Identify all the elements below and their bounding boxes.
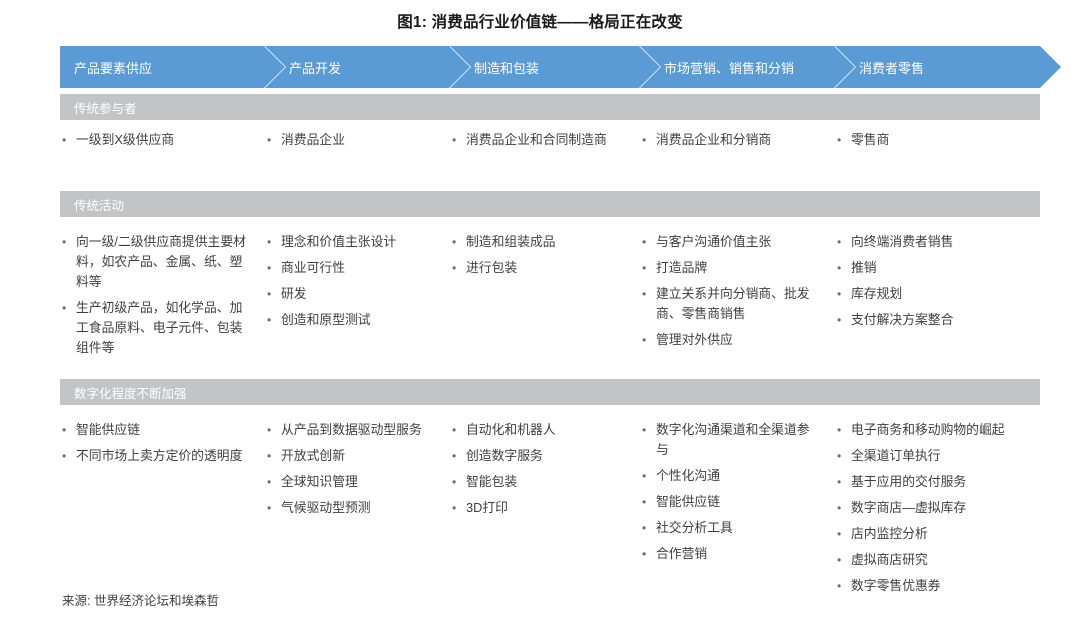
list-item: 全球知识管理: [265, 472, 436, 492]
list-item: 向一级/二级供应商提供主要材料，如农产品、金属、纸、塑料等: [60, 232, 251, 292]
value-chain-stage-bar: 产品要素供应 产品开发 制造和包装 市场营销、销售和分销 消费者零售: [60, 46, 1040, 88]
page-title: 图1: 消费品行业价值链——格局正在改变: [0, 10, 1080, 32]
bullet-list: 智能供应链 不同市场上卖方定价的透明度: [60, 420, 251, 466]
section-header-label: 传统活动: [74, 195, 124, 214]
cell-0-0: 一级到X级供应商: [60, 130, 265, 156]
cell-1-1: 理念和价值主张设计 商业可行性 研发 创造和原型测试: [265, 232, 450, 364]
list-item: 智能供应链: [60, 420, 251, 440]
list-item: 库存规划: [835, 284, 1026, 304]
list-item: 合作营销: [640, 544, 821, 564]
stage-label: 产品开发: [289, 58, 341, 77]
bullet-list: 向一级/二级供应商提供主要材料，如农产品、金属、纸、塑料等 生产初级产品，如化学…: [60, 232, 251, 358]
list-item: 研发: [265, 284, 436, 304]
list-item: 建立关系并向分销商、批发商、零售商销售: [640, 284, 821, 324]
list-item: 进行包装: [450, 258, 626, 278]
cell-2-0: 智能供应链 不同市场上卖方定价的透明度: [60, 420, 265, 602]
cell-2-1: 从产品到数据驱动型服务 开放式创新 全球知识管理 气候驱动型预测: [265, 420, 450, 602]
bullet-list: 消费品企业和合同制造商: [450, 130, 626, 150]
list-item: 个性化沟通: [640, 466, 821, 486]
stage-3[interactable]: 市场营销、销售和分销: [640, 46, 835, 88]
list-item: 与客户沟通价值主张: [640, 232, 821, 252]
list-item: 电子商务和移动购物的崛起: [835, 420, 1026, 440]
list-item: 基于应用的交付服务: [835, 472, 1026, 492]
bullet-list: 零售商: [835, 130, 1026, 150]
bullet-list: 向终端消费者销售 推销 库存规划 支付解决方案整合: [835, 232, 1026, 330]
list-item: 3D打印: [450, 498, 626, 518]
section-header-label: 数字化程度不断加强: [74, 383, 187, 402]
list-item: 全渠道订单执行: [835, 446, 1026, 466]
cell-0-1: 消费品企业: [265, 130, 450, 156]
chevron-arrow-icon: [1040, 46, 1061, 88]
section-body-1: 向一级/二级供应商提供主要材料，如农产品、金属、纸、塑料等 生产初级产品，如化学…: [60, 232, 1040, 364]
list-item: 数字商店—虚拟库存: [835, 498, 1026, 518]
list-item: 创造数字服务: [450, 446, 626, 466]
list-item: 虚拟商店研究: [835, 550, 1026, 570]
section-header-0: 传统参与者: [60, 94, 1040, 120]
list-item: 气候驱动型预测: [265, 498, 436, 518]
bullet-list: 消费品企业: [265, 130, 436, 150]
list-item: 消费品企业和分销商: [640, 130, 821, 150]
section-header-2: 数字化程度不断加强: [60, 379, 1040, 405]
list-item: 不同市场上卖方定价的透明度: [60, 446, 251, 466]
list-item: 一级到X级供应商: [60, 130, 251, 150]
bullet-list: 数字化沟通渠道和全渠道参与 个性化沟通 智能供应链 社交分析工具 合作营销: [640, 420, 821, 564]
bullet-list: 一级到X级供应商: [60, 130, 251, 150]
list-item: 创造和原型测试: [265, 310, 436, 330]
list-item: 智能包装: [450, 472, 626, 492]
list-item: 理念和价值主张设计: [265, 232, 436, 252]
section-body-0: 一级到X级供应商 消费品企业 消费品企业和合同制造商 消费品企业和分销商 零售商: [60, 130, 1040, 156]
stage-0[interactable]: 产品要素供应: [60, 46, 265, 88]
list-item: 零售商: [835, 130, 1026, 150]
stage-4[interactable]: 消费者零售: [835, 46, 1040, 88]
list-item: 从产品到数据驱动型服务: [265, 420, 436, 440]
bullet-list: 与客户沟通价值主张 打造品牌 建立关系并向分销商、批发商、零售商销售 管理对外供…: [640, 232, 821, 350]
bullet-list: 从产品到数据驱动型服务 开放式创新 全球知识管理 气候驱动型预测: [265, 420, 436, 518]
bullet-list: 自动化和机器人 创造数字服务 智能包装 3D打印: [450, 420, 626, 518]
list-item: 智能供应链: [640, 492, 821, 512]
value-chain-figure: 图1: 消费品行业价值链——格局正在改变 产品要素供应 产品开发 制造和包装 市…: [0, 0, 1080, 624]
section-header-label: 传统参与者: [74, 98, 137, 117]
list-item: 制造和组装成品: [450, 232, 626, 252]
stage-label: 产品要素供应: [74, 58, 152, 77]
bullet-list: 制造和组装成品 进行包装: [450, 232, 626, 278]
list-item: 支付解决方案整合: [835, 310, 1026, 330]
stage-label: 市场营销、销售和分销: [664, 58, 794, 77]
section-header-1: 传统活动: [60, 191, 1040, 217]
cell-1-0: 向一级/二级供应商提供主要材料，如农产品、金属、纸、塑料等 生产初级产品，如化学…: [60, 232, 265, 364]
cell-1-3: 与客户沟通价值主张 打造品牌 建立关系并向分销商、批发商、零售商销售 管理对外供…: [640, 232, 835, 364]
section-body-2: 智能供应链 不同市场上卖方定价的透明度 从产品到数据驱动型服务 开放式创新 全球…: [60, 420, 1040, 602]
stage-2[interactable]: 制造和包装: [450, 46, 640, 88]
bullet-list: 电子商务和移动购物的崛起 全渠道订单执行 基于应用的交付服务 数字商店—虚拟库存…: [835, 420, 1026, 596]
cell-1-4: 向终端消费者销售 推销 库存规划 支付解决方案整合: [835, 232, 1040, 364]
stage-1[interactable]: 产品开发: [265, 46, 450, 88]
source-note: 来源: 世界经济论坛和埃森哲: [62, 590, 219, 609]
list-item: 管理对外供应: [640, 330, 821, 350]
list-item: 商业可行性: [265, 258, 436, 278]
list-item: 数字零售优惠券: [835, 576, 1026, 596]
cell-0-3: 消费品企业和分销商: [640, 130, 835, 156]
list-item: 店内监控分析: [835, 524, 1026, 544]
cell-2-3: 数字化沟通渠道和全渠道参与 个性化沟通 智能供应链 社交分析工具 合作营销: [640, 420, 835, 602]
stage-label: 制造和包装: [474, 58, 539, 77]
bullet-list: 理念和价值主张设计 商业可行性 研发 创造和原型测试: [265, 232, 436, 330]
list-item: 向终端消费者销售: [835, 232, 1026, 252]
list-item: 消费品企业: [265, 130, 436, 150]
cell-0-2: 消费品企业和合同制造商: [450, 130, 640, 156]
bullet-list: 消费品企业和分销商: [640, 130, 821, 150]
list-item: 消费品企业和合同制造商: [450, 130, 626, 150]
cell-0-4: 零售商: [835, 130, 1040, 156]
cell-2-2: 自动化和机器人 创造数字服务 智能包装 3D打印: [450, 420, 640, 602]
list-item: 生产初级产品，如化学品、加工食品原料、电子元件、包装组件等: [60, 298, 251, 358]
list-item: 开放式创新: [265, 446, 436, 466]
cell-2-4: 电子商务和移动购物的崛起 全渠道订单执行 基于应用的交付服务 数字商店—虚拟库存…: [835, 420, 1040, 602]
stage-label: 消费者零售: [859, 58, 924, 77]
list-item: 社交分析工具: [640, 518, 821, 538]
cell-1-2: 制造和组装成品 进行包装: [450, 232, 640, 364]
list-item: 数字化沟通渠道和全渠道参与: [640, 420, 821, 460]
list-item: 推销: [835, 258, 1026, 278]
list-item: 打造品牌: [640, 258, 821, 278]
list-item: 自动化和机器人: [450, 420, 626, 440]
